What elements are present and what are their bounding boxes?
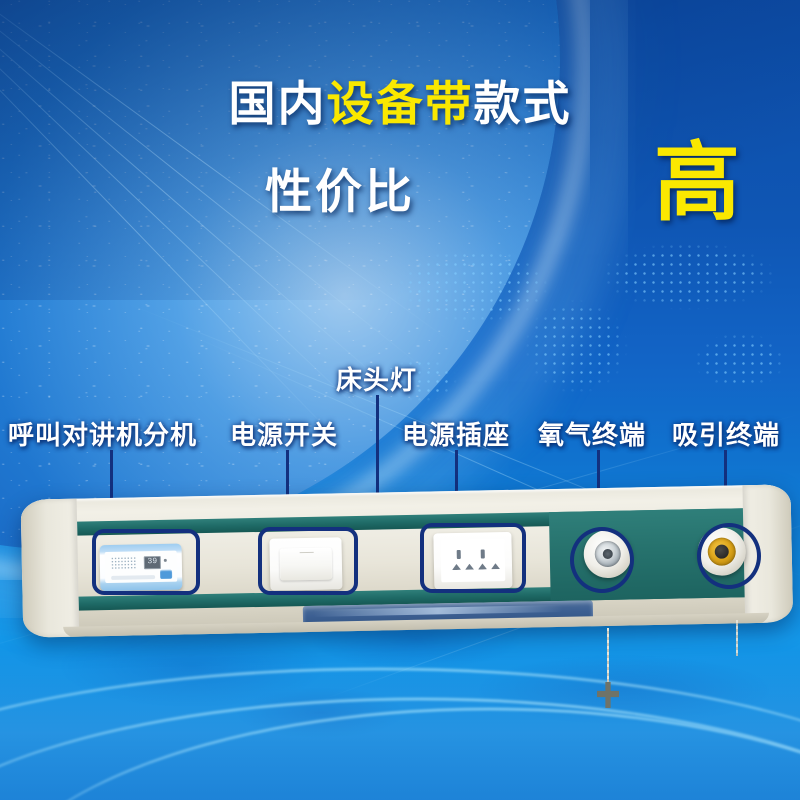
callout-label-socket: 电源插座 — [402, 415, 510, 452]
highlight-circle-oxygen — [570, 527, 634, 593]
highlight-box-socket — [420, 523, 526, 593]
callout-label-intercom: 呼叫对讲机分机 — [8, 415, 197, 452]
highlight-box-intercom — [92, 529, 200, 595]
pull-cord-oxygen[interactable] — [607, 628, 609, 686]
pull-cord-suction[interactable] — [736, 620, 738, 656]
panel-end-cap-left — [21, 499, 80, 638]
callout-label-suction: 吸引终端 — [672, 415, 780, 452]
highlight-box-switch — [258, 527, 358, 595]
callout-label-bed-lamp: 床头灯 — [336, 360, 417, 397]
callout-label-switch: 电源开关 — [230, 415, 338, 452]
promo-image: 国内设备带款式 性价比 高 呼叫对讲机分机 电源开关 床头灯 电源插座 氧气终端… — [0, 0, 800, 800]
callout-label-oxygen: 氧气终端 — [538, 415, 646, 452]
highlight-circle-suction — [697, 523, 761, 589]
callout-layer: 呼叫对讲机分机 电源开关 床头灯 电源插座 氧气终端 吸引终端 — [0, 0, 800, 800]
